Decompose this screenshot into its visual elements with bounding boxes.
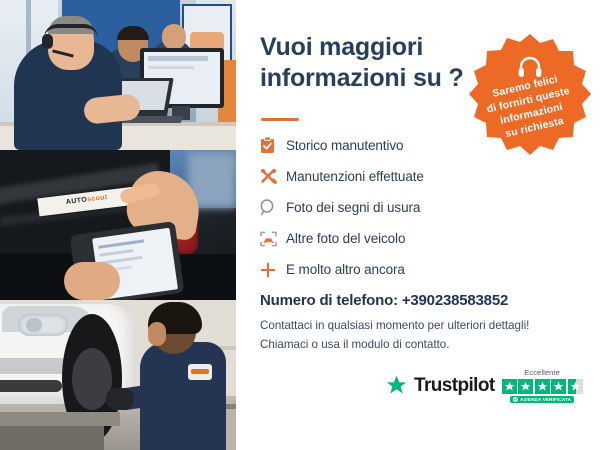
- check-circle-icon: [513, 397, 518, 402]
- mechanic-glove-decor: [106, 388, 134, 410]
- list-item-label: E molto altro ancora: [286, 262, 405, 277]
- list-item-label: Storico manutentivo: [286, 138, 403, 153]
- list-item-label: Foto dei segni di usura: [286, 200, 420, 215]
- tools-cross-icon: [260, 168, 286, 185]
- headset-icon: [518, 56, 542, 78]
- list-item: Foto dei segni di usura: [260, 194, 480, 221]
- list-item-label: Altre foto del veicolo: [286, 231, 405, 246]
- trustpilot-widget[interactable]: Trustpilot Eccellente: [386, 368, 583, 403]
- photo-column: AUTOscout: [0, 0, 236, 450]
- title-underline-divider: [261, 118, 299, 121]
- feature-list: Storico manutentivo Manutenzioni effettu…: [260, 132, 480, 287]
- person-background-head-decor: [162, 24, 186, 50]
- trustpilot-brand-label: Trustpilot: [414, 375, 495, 397]
- page-title-line1: Vuoi maggiori: [260, 32, 475, 63]
- car-lift-decor: [0, 412, 120, 426]
- list-item-label: Manutenzioni effettuate: [286, 169, 424, 184]
- contact-description: Contattaci in qualsiasi momento per ulte…: [260, 317, 560, 354]
- agent-headset-earcup-decor: [42, 34, 53, 49]
- car-lift-base-decor: [0, 426, 104, 450]
- hand-holding-tablet-decor: [64, 262, 120, 300]
- headlight-decor: [18, 314, 68, 336]
- contact-description-line1: Contattaci in qualsiasi momento per ulte…: [260, 317, 560, 336]
- trustpilot-rating-block: Eccellente: [502, 368, 583, 403]
- star-filled-2: [518, 379, 533, 394]
- list-item: E molto altro ancora: [260, 256, 480, 283]
- verified-company-label: AZIENDA VERIFICATA: [520, 397, 571, 402]
- phone-number-label: Numero di telefono: +390238583852: [260, 292, 508, 309]
- plus-icon: [260, 262, 286, 278]
- star-filled-1: [502, 379, 517, 394]
- contact-description-line2: Chiamaci o usa il modulo di contatto.: [260, 336, 560, 355]
- star-partial-5: [568, 379, 583, 394]
- lower-grille-decor: [0, 380, 62, 392]
- content-panel: Vuoi maggiori informazioni su ? Saremo f…: [236, 0, 600, 450]
- verified-company-badge: AZIENDA VERIFICATA: [510, 396, 574, 403]
- mechanic-face-decor: [148, 322, 166, 346]
- photo-call-center: [0, 0, 236, 150]
- trustpilot-star-icon: [386, 375, 407, 396]
- uniform-logo-patch-decor: [188, 364, 212, 380]
- list-item: Manutenzioni effettuate: [260, 163, 480, 190]
- trustpilot-rating-label: Eccellente: [524, 368, 560, 377]
- car-scan-icon: [260, 231, 286, 247]
- photo-label-on-car: AUTOscout: [0, 150, 236, 300]
- list-item: Altre foto del veicolo: [260, 225, 480, 252]
- promo-starburst-badge: Saremo felici di fornirti queste informa…: [468, 32, 592, 156]
- list-item: Storico manutentivo: [260, 132, 480, 159]
- trustpilot-star-rating: [502, 379, 583, 394]
- page-title: Vuoi maggiori informazioni su ?: [260, 32, 475, 93]
- photo-mechanic-wheel: [0, 300, 236, 450]
- advertisement-card: AUTOscout: [0, 0, 600, 450]
- star-filled-4: [551, 379, 566, 394]
- magnifier-icon: [260, 199, 286, 216]
- clipboard-check-icon: [260, 137, 286, 154]
- page-title-line2: informazioni su ?: [260, 63, 475, 94]
- star-filled-3: [535, 379, 550, 394]
